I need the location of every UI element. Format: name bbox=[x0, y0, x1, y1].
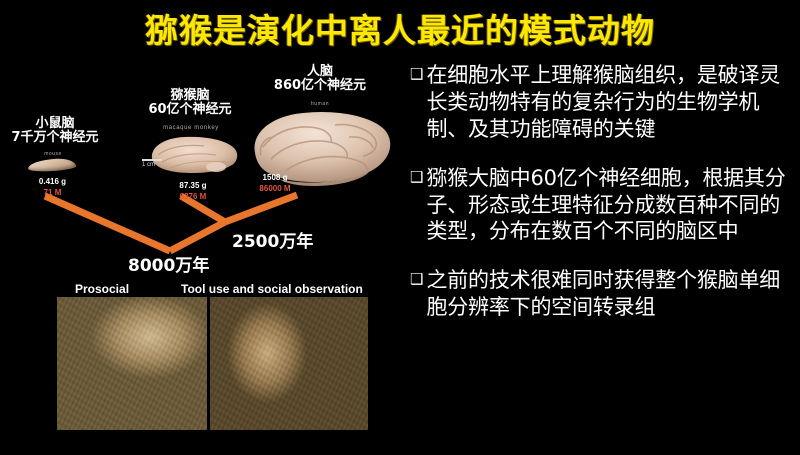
divergence-time-macaque-human: 2500万年 bbox=[232, 227, 313, 252]
photo-texture-overlay bbox=[57, 297, 207, 430]
macaque-brain-image bbox=[146, 133, 240, 177]
macaque-neuron-count: 6376 M bbox=[148, 192, 238, 201]
macaque-latin-name: macaque monkey bbox=[142, 125, 240, 131]
bullet-item-1: ❑ 在细胞水平上理解猴脑组织，是破译灵长类动物特有的复杂行为的生物学机制、及其功… bbox=[410, 62, 795, 143]
macaque-label-line1: 猕猴脑 bbox=[130, 89, 250, 103]
mouse-label-line2: 7千万个神经元 bbox=[0, 131, 110, 145]
mouse-latin-name: mouse bbox=[18, 151, 88, 157]
divergence-time-rodent-primate: 8000万年 bbox=[128, 251, 209, 276]
human-brain-label: 人脑 860亿个神经元 bbox=[245, 65, 395, 92]
slide-title: 猕猴是演化中离人最近的模式动物 bbox=[0, 4, 800, 52]
mouse-label-line1: 小鼠脑 bbox=[0, 117, 110, 131]
photo-texture-overlay bbox=[210, 297, 368, 430]
human-label-line1: 人脑 bbox=[245, 65, 395, 79]
human-brain-mass: 1508 g bbox=[230, 173, 320, 182]
human-label-line2: 860亿个神经元 bbox=[245, 79, 395, 93]
mouse-brain-mass: 0.416 g bbox=[15, 177, 90, 186]
bullet-list: ❑ 在细胞水平上理解猴脑组织，是破译灵长类动物特有的复杂行为的生物学机制、及其功… bbox=[410, 62, 795, 343]
bullet-square-icon: ❑ bbox=[410, 62, 423, 86]
photo-tool-use bbox=[210, 297, 368, 430]
tree-branch-root bbox=[170, 222, 225, 251]
bullet-text-3: 之前的技术很难同时获得整个猴脑单细胞分辨率下的空间转录组 bbox=[426, 267, 795, 321]
human-neuron-count: 86000 M bbox=[230, 184, 320, 193]
slide-canvas: 猕猴是演化中离人最近的模式动物 8000万年 2500万年 小鼠脑 7千万个神经… bbox=[0, 0, 800, 455]
mouse-brain-label: 小鼠脑 7千万个神经元 bbox=[0, 117, 110, 144]
scale-bar-label: 1 cm bbox=[142, 162, 155, 168]
bullet-text-2: 猕猴大脑中60亿个神经细胞，根据其分子、形态或生理特征分成数百种不同的类型，分布… bbox=[426, 165, 795, 246]
photo-caption-prosocial: Prosocial bbox=[75, 282, 129, 296]
photo-caption-tool-use: Tool use and social observation bbox=[181, 282, 363, 296]
macaque-scale-bar: 1 cm bbox=[142, 159, 172, 168]
bullet-item-2: ❑ 猕猴大脑中60亿个神经细胞，根据其分子、形态或生理特征分成数百种不同的类型，… bbox=[410, 165, 795, 246]
bullet-square-icon: ❑ bbox=[410, 165, 423, 189]
mouse-neuron-count: 71 M bbox=[15, 188, 90, 197]
bullet-item-3: ❑ 之前的技术很难同时获得整个猴脑单细胞分辨率下的空间转录组 bbox=[410, 267, 795, 321]
macaque-brain-label: 猕猴脑 60亿个神经元 bbox=[130, 89, 250, 116]
macaque-brain-mass: 87.35 g bbox=[148, 181, 238, 190]
tree-branch-mouse bbox=[45, 196, 170, 251]
bullet-text-1: 在细胞水平上理解猴脑组织，是破译灵长类动物特有的复杂行为的生物学机制、及其功能障… bbox=[426, 62, 795, 143]
behavior-photo-group: Prosocial Tool use and social observatio… bbox=[57, 282, 368, 430]
bullet-square-icon: ❑ bbox=[410, 267, 423, 291]
photo-prosocial bbox=[57, 297, 207, 430]
macaque-label-line2: 60亿个神经元 bbox=[130, 103, 250, 117]
scale-bar-line bbox=[142, 159, 162, 161]
